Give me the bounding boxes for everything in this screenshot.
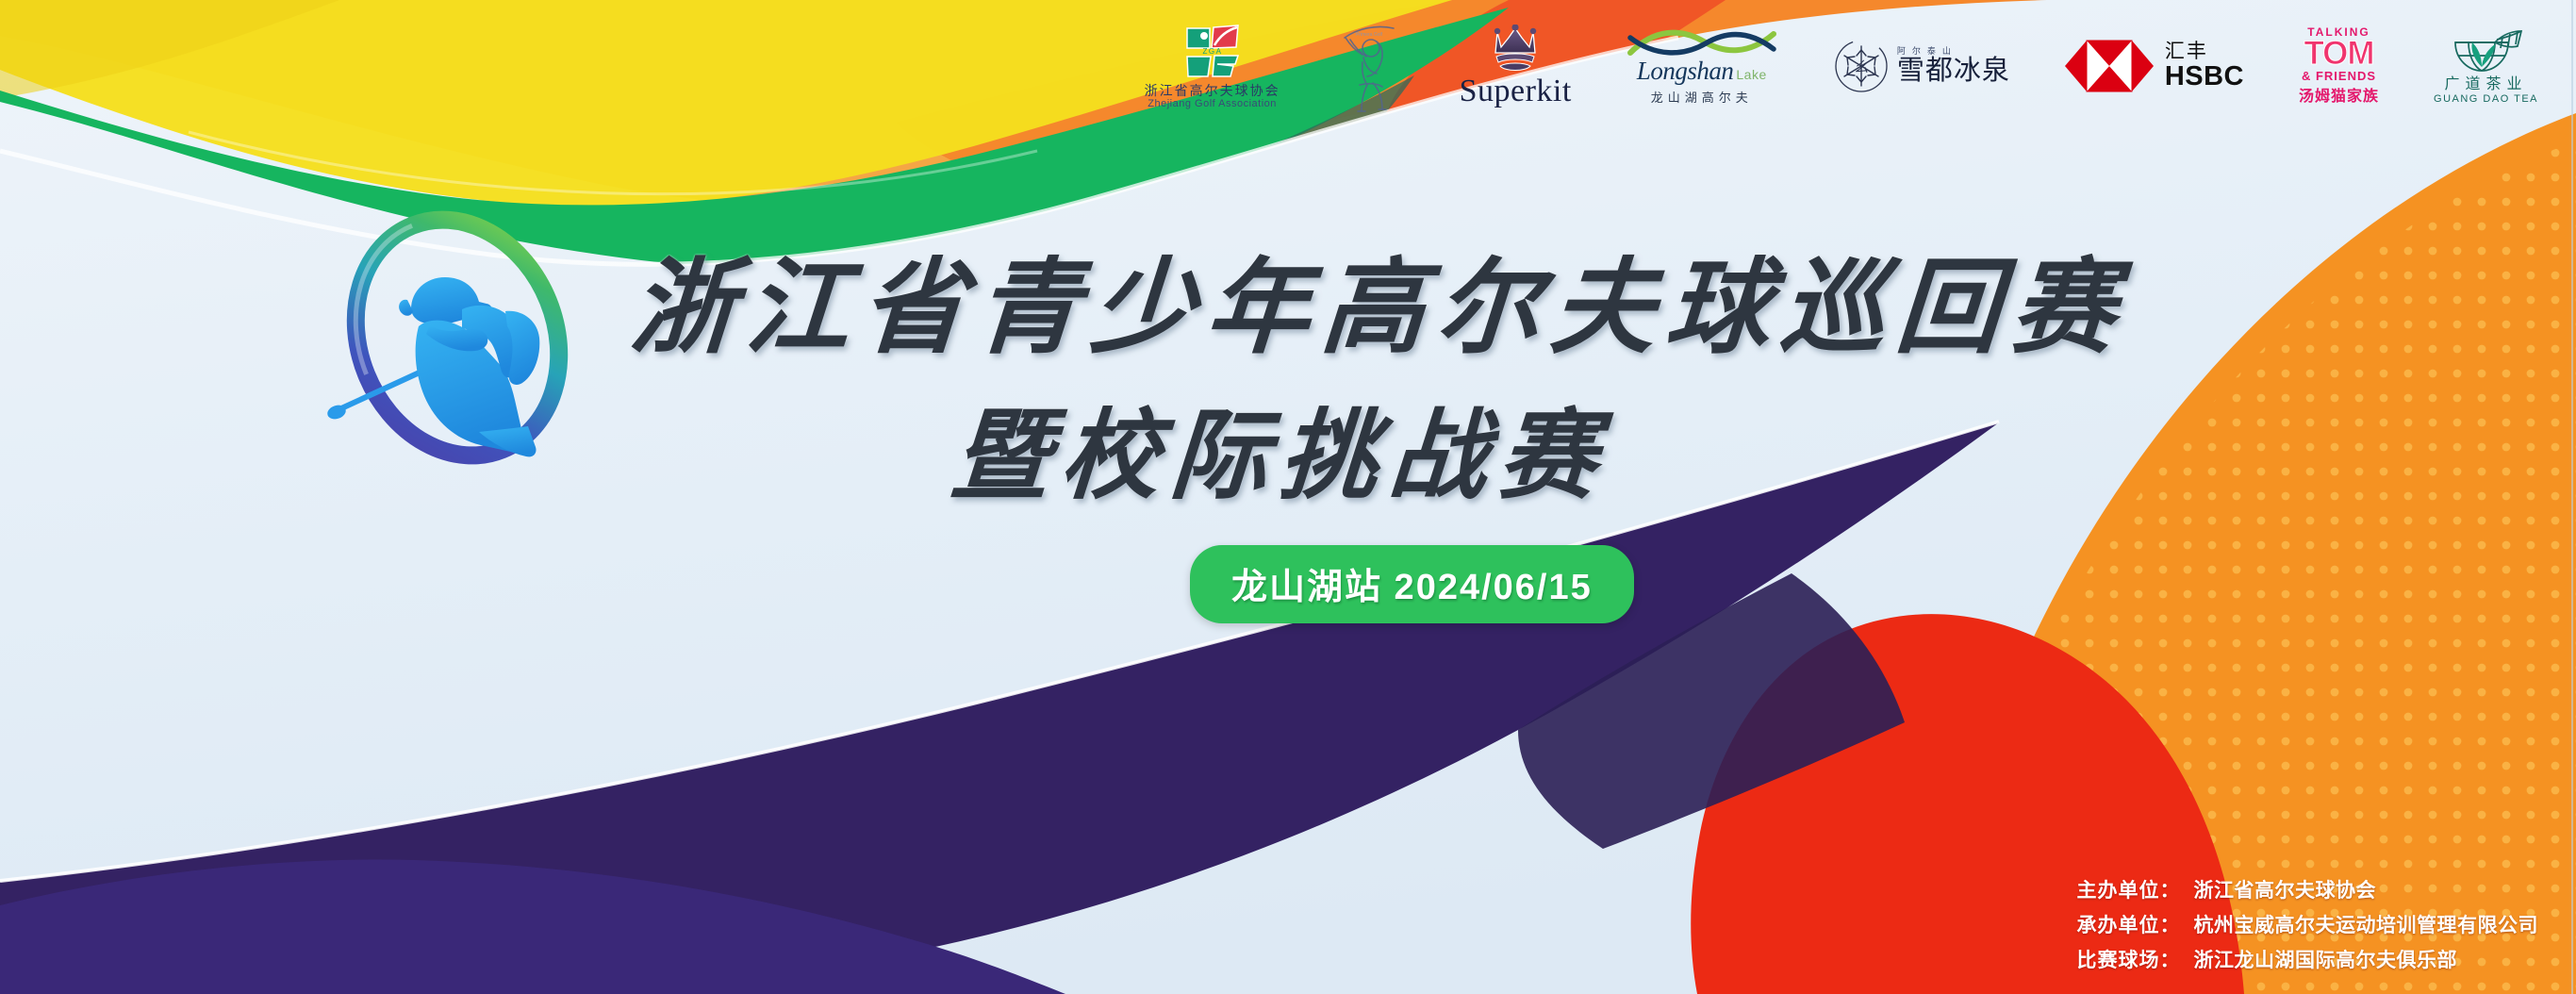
organizer-credits: 主办单位： 浙江省高尔夫球协会 承办单位： 杭州宝威高尔夫运动培训管理有限公司 … — [2077, 875, 2539, 973]
primera-golfer-icon: Primera Golf — [1335, 17, 1405, 115]
page-subtitle: 暨校际挑战赛 — [948, 375, 1614, 518]
sponsor-zhejiang-golf-association: ZGA 浙江省高尔夫球协会 Zhejiang Golf Association — [1145, 7, 1280, 125]
sponsor-name-cn: 龙山湖高尔夫 — [1651, 88, 1753, 106]
superkit-crown-icon — [1488, 25, 1543, 74]
sponsor-name-en: HSBC — [2165, 63, 2244, 91]
sponsor-name-en-bottom: & FRIENDS — [2302, 70, 2376, 82]
sponsor-xuedu-bingquan: 么 阿尔泰山 雪都冰泉 — [1832, 7, 2010, 125]
credit-value: 浙江龙山湖国际高尔夫俱乐部 — [2194, 945, 2458, 973]
sponsor-name-en: Zhejiang Golf Association — [1148, 98, 1277, 109]
event-banner: ZGA 浙江省高尔夫球协会 Zhejiang Golf Association — [0, 0, 2576, 994]
credit-label: 主办单位： — [2077, 875, 2194, 903]
sponsor-name-en-sub: Lake — [1736, 67, 1766, 82]
sponsor-name-cn: 雪都冰泉 — [1897, 58, 2010, 85]
credit-row: 承办单位： 杭州宝威高尔夫运动培训管理有限公司 — [2077, 910, 2539, 938]
svg-text:ZGA: ZGA — [1202, 47, 1222, 56]
sponsor-hsbc: 汇丰 HSBC — [2065, 7, 2244, 125]
venue-date-badge: 龙山湖站 2024/06/15 — [1190, 545, 1634, 623]
sponsor-talking-tom-and-friends: TALKING TOM & FRIENDS 汤姆猫家族 — [2299, 7, 2379, 125]
golfer-emblem-icon — [321, 196, 594, 479]
venue-date-text: 龙山湖站 2024/06/15 — [1231, 557, 1593, 609]
zga-logo-icon: ZGA — [1183, 23, 1242, 81]
sponsor-name-en: GUANG DAO TEA — [2434, 93, 2538, 105]
sponsor-name-en-mid: TOM — [2304, 38, 2373, 69]
sponsor-superkit: Superkit — [1460, 7, 1572, 125]
sponsor-logo-strip: ZGA 浙江省高尔夫球协会 Zhejiang Golf Association — [0, 0, 2576, 132]
credit-value: 浙江省高尔夫球协会 — [2194, 875, 2377, 903]
sponsor-name-cn: 汇丰 — [2165, 41, 2208, 61]
snowflake-icon: 么 — [1832, 37, 1891, 95]
sponsor-name-cn: 广道茶业 — [2445, 76, 2528, 93]
sponsor-name-cn: 汤姆猫家族 — [2299, 83, 2379, 106]
longshan-wave-icon — [1627, 26, 1777, 58]
credit-row: 主办单位： 浙江省高尔夫球协会 — [2077, 875, 2377, 903]
sponsor-guang-dao-tea: 广道茶业 GUANG DAO TEA — [2434, 7, 2538, 125]
sponsor-longshan-lake: LongshanLake 龙山湖高尔夫 — [1627, 7, 1777, 125]
sponsor-name-cn: 浙江省高尔夫球协会 — [1145, 84, 1280, 98]
sponsor-name-en: LongshanLake — [1637, 58, 1767, 84]
sponsor-name-cn-small: 阿尔泰山 — [1897, 47, 1957, 56]
credit-row: 比赛球场： 浙江龙山湖国际高尔夫俱乐部 — [2077, 945, 2458, 973]
hsbc-hexagon-icon — [2065, 37, 2154, 95]
page-title: 浙江省青少年高尔夫球巡回赛 — [626, 223, 2132, 373]
credit-label: 承办单位： — [2077, 910, 2194, 938]
credit-value: 杭州宝威高尔夫运动培训管理有限公司 — [2194, 910, 2539, 938]
svg-text:么: 么 — [1854, 59, 1868, 75]
tea-leaf-globe-icon — [2450, 27, 2523, 75]
svg-text:Primera Golf: Primera Golf — [1356, 32, 1383, 38]
sponsor-name-en: Superkit — [1460, 75, 1572, 108]
credit-label: 比赛球场： — [2077, 945, 2194, 973]
sponsor-primera-golf: Primera Golf — [1335, 7, 1405, 125]
